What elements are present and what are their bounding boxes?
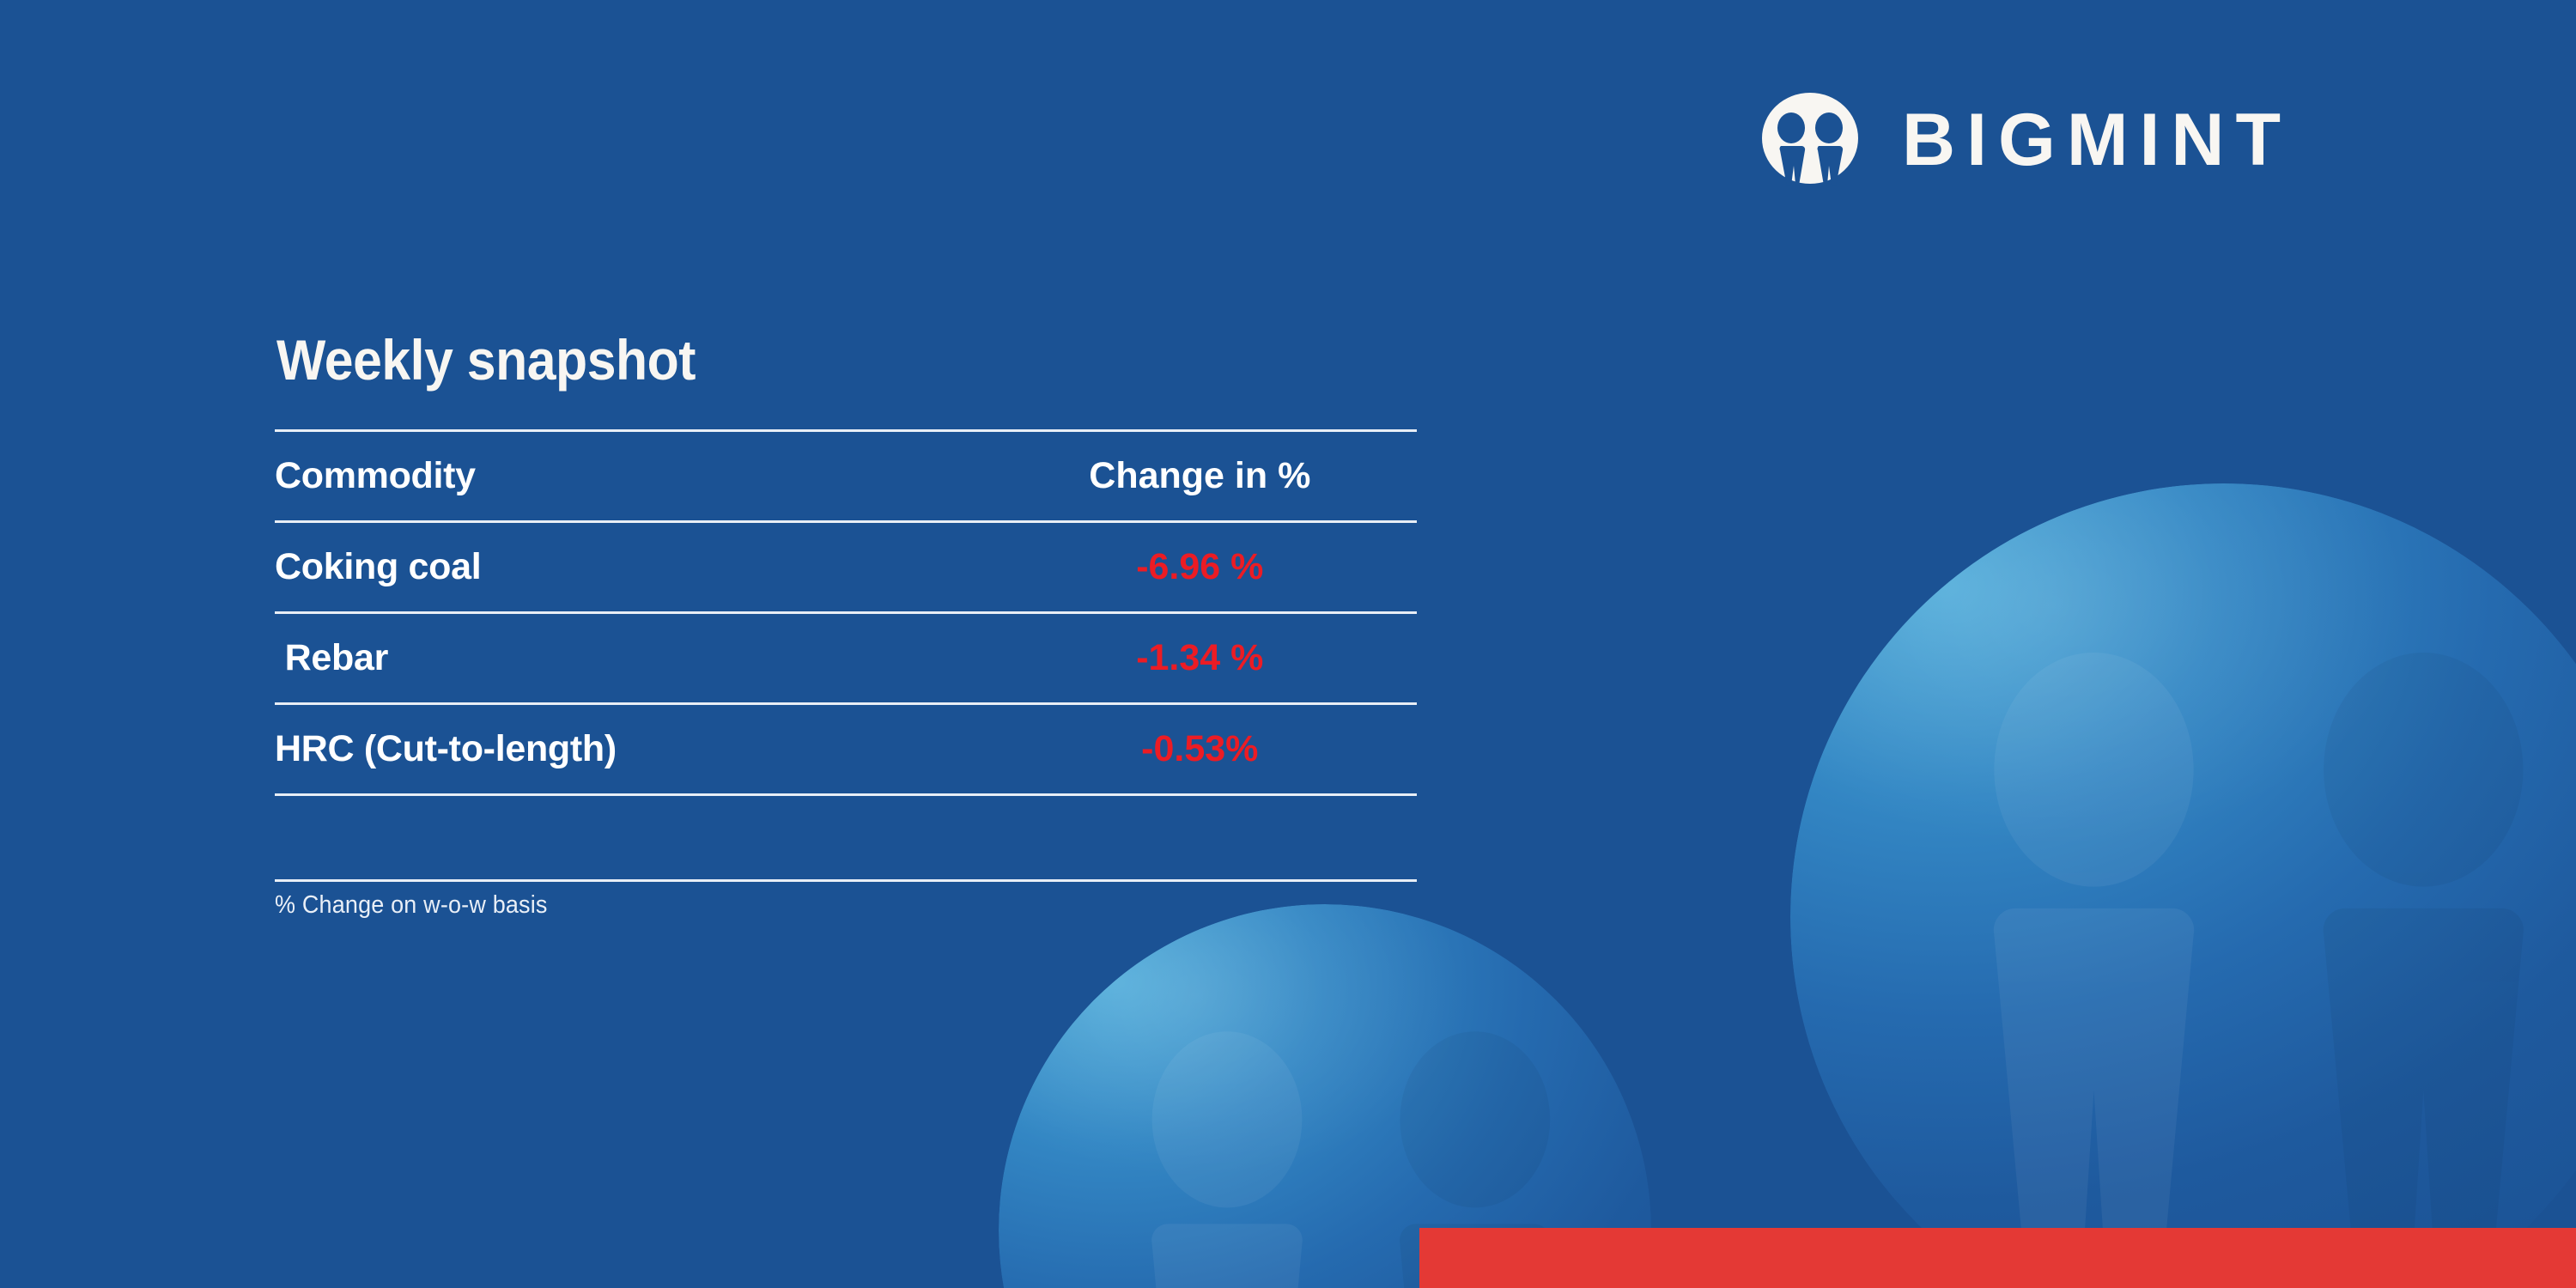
table-spacer-row	[275, 796, 1417, 879]
divider	[275, 879, 1417, 882]
brand-logo: BIGMINT	[1756, 93, 2292, 187]
commodity-name: Coking coal	[275, 523, 983, 611]
change-value: -6.96 %	[983, 523, 1417, 611]
footnote-text: % Change on w-o-w basis	[275, 891, 548, 920]
page-title: Weekly snapshot	[276, 331, 1326, 388]
red-corner-bar	[1419, 1228, 2576, 1288]
column-header-change: Change in %	[983, 432, 1417, 520]
table-rule-row	[275, 879, 1417, 882]
table-header-row: Commodity Change in %	[275, 432, 1417, 520]
snapshot-table: Commodity Change in % Coking coal -6.96 …	[275, 429, 1417, 882]
bigmint-mark-icon	[1756, 93, 1864, 187]
commodity-name: Rebar	[275, 614, 983, 702]
table-row: HRC (Cut-to-length) -0.53%	[275, 705, 1417, 793]
change-value: -1.34 %	[983, 614, 1417, 702]
table-row: Rebar -1.34 %	[275, 614, 1417, 702]
change-value: -0.53%	[983, 705, 1417, 793]
table-row: Coking coal -6.96 %	[275, 523, 1417, 611]
decor-sphere-large	[1790, 483, 2576, 1288]
brand-wordmark: BIGMINT	[1902, 103, 2292, 177]
weekly-snapshot-panel: Weekly snapshot Commodity Change in % C	[275, 331, 1417, 882]
column-header-commodity: Commodity	[275, 432, 983, 520]
poster-canvas: BIGMINT Weekly snapshot Commodity Change…	[0, 0, 2576, 1288]
commodity-name: HRC (Cut-to-length)	[275, 705, 983, 793]
